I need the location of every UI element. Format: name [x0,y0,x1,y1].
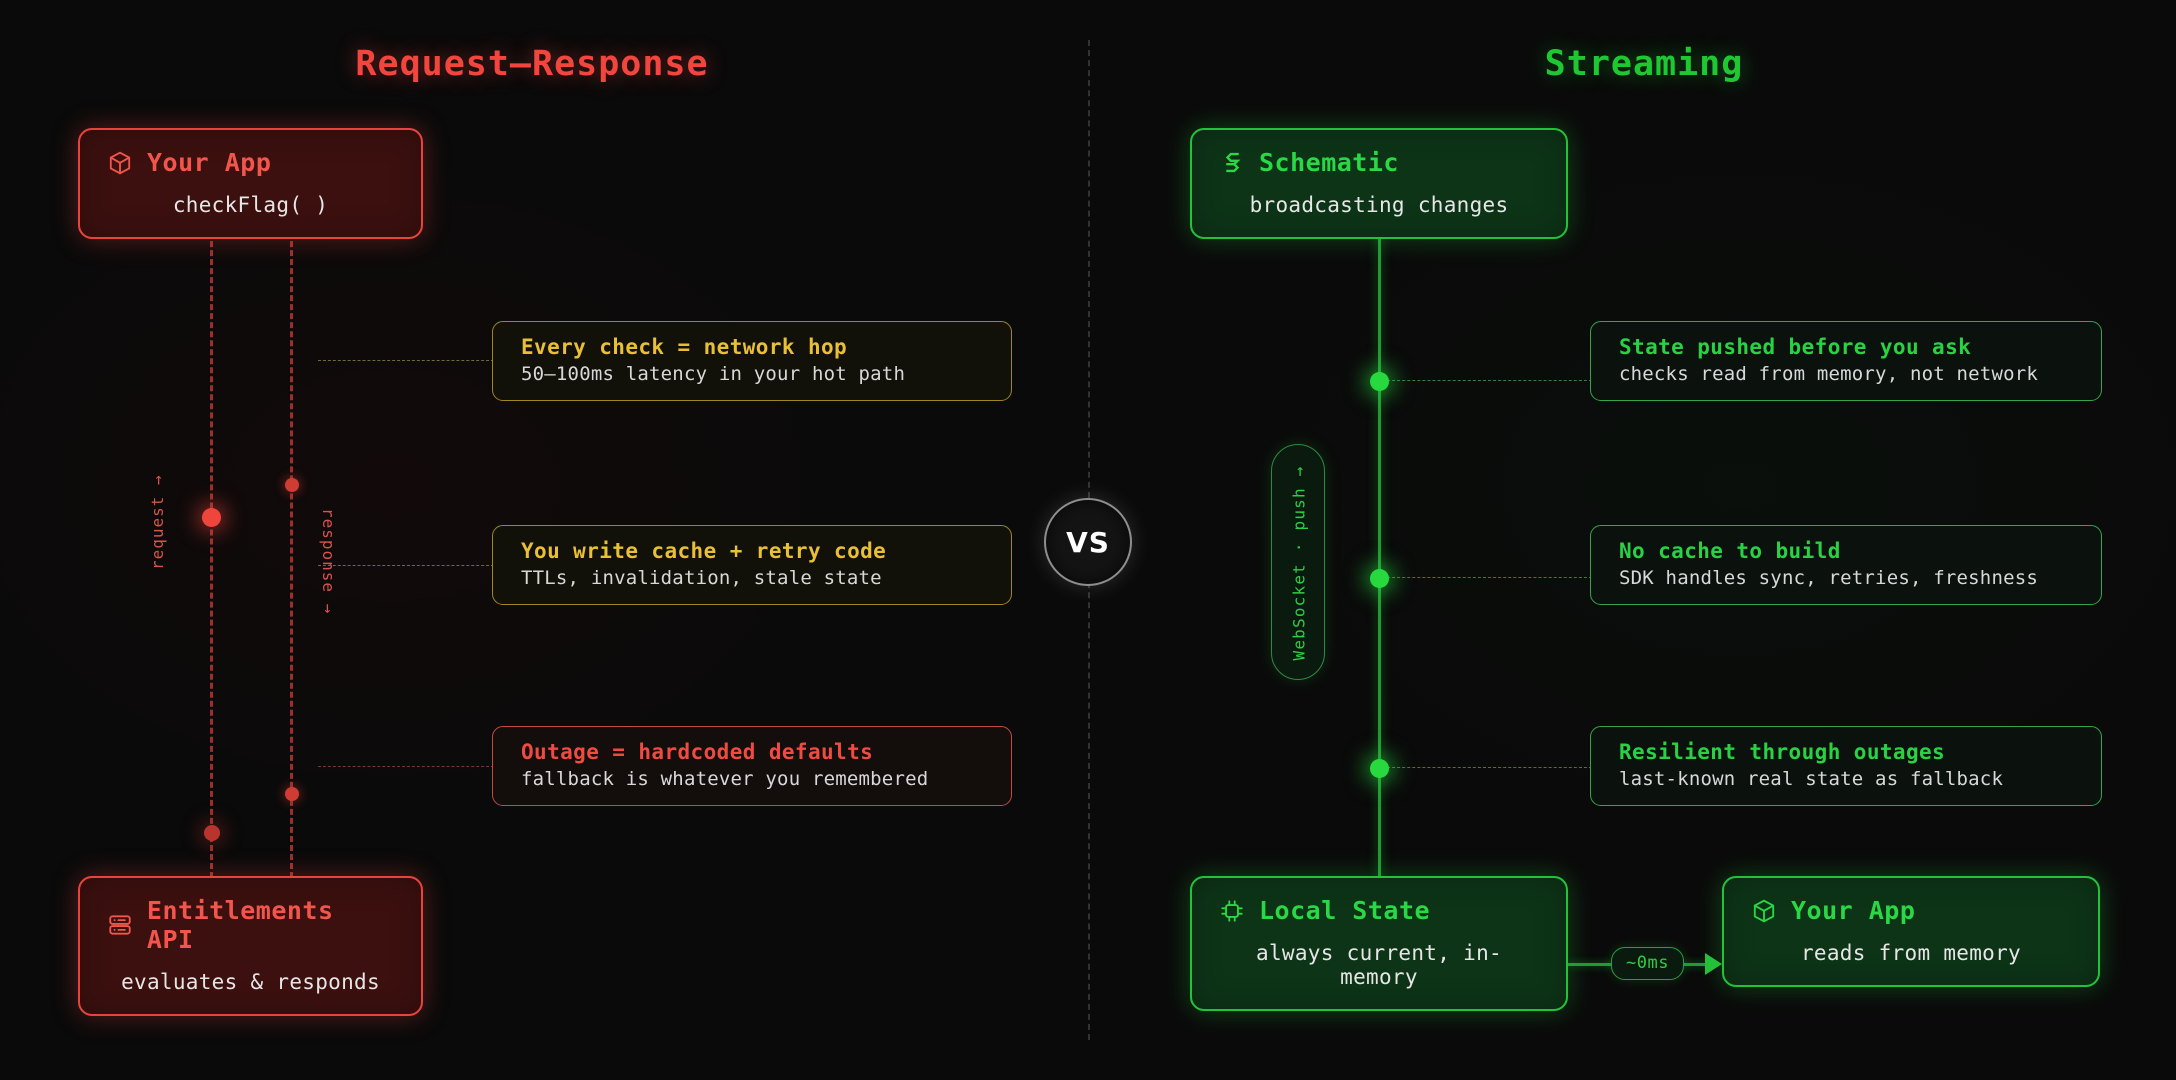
callout-connector [318,360,494,361]
callout-subtitle: fallback is whatever you remembered [521,768,987,790]
node-header: Local State [1218,896,1540,925]
node-title: Schematic [1259,148,1399,177]
callout-connector [318,766,494,767]
node-local-state[interactable]: Local State always current, in-memory [1190,876,1568,1011]
node-subtitle: broadcasting changes [1218,193,1540,217]
stream-node-dot [1370,569,1389,588]
heading-request-response: Request—Response [0,44,1064,84]
node-header: Schematic [1218,148,1540,177]
callout-title: State pushed before you ask [1619,335,2077,359]
node-subtitle: checkFlag( ) [106,193,395,217]
node-entitlements-api[interactable]: Entitlements API evaluates & responds [78,876,423,1016]
node-header: Your App [106,148,395,177]
node-subtitle: reads from memory [1750,941,2072,965]
callout-subtitle: TTLs, invalidation, stale state [521,567,987,589]
callout-title: No cache to build [1619,539,2077,563]
websocket-transport-label: WebSocket · push → [1290,466,1309,661]
callout-connector [1382,380,1592,381]
node-title: Your App [147,148,271,177]
cube-icon [106,149,134,177]
node-title: Local State [1259,896,1430,925]
websocket-transport-pill: WebSocket · push → [1271,444,1325,680]
cpu-chip-icon [1218,897,1246,925]
request-node-dot [204,825,220,841]
callout-right-2: No cache to build SDK handles sync, retr… [1590,525,2102,605]
callout-subtitle: checks read from memory, not network [1619,363,2077,385]
callout-left-1: Every check = network hop 50—100ms laten… [492,321,1012,401]
node-title: Entitlements API [147,896,395,954]
response-node-dot [285,787,299,801]
node-your-app-right[interactable]: Your App reads from memory [1722,876,2100,987]
callout-left-2: You write cache + retry code TTLs, inval… [492,525,1012,605]
response-flow-line [290,196,293,878]
node-title: Your App [1791,896,1915,925]
vs-badge: VS [1044,498,1132,586]
response-node-dot [285,478,299,492]
callout-right-3: Resilient through outages last-known rea… [1590,726,2102,806]
callout-left-3: Outage = hardcoded defaults fallback is … [492,726,1012,806]
callout-title: Resilient through outages [1619,740,2077,764]
callout-title: Outage = hardcoded defaults [521,740,987,764]
latency-badge: ~0ms [1611,947,1684,980]
request-edge-label: request → [148,474,167,570]
stream-node-dot [1370,759,1389,778]
callout-subtitle: last-known real state as fallback [1619,768,2077,790]
node-your-app-left[interactable]: Your App checkFlag( ) [78,128,423,239]
diagram-canvas: VS Request—Response Streaming request → … [0,0,2176,1080]
request-flow-line [210,196,213,878]
callout-title: Every check = network hop [521,335,987,359]
node-subtitle: evaluates & responds [106,970,395,994]
callout-subtitle: 50—100ms latency in your hot path [521,363,987,385]
callout-connector [1382,577,1592,578]
callout-right-1: State pushed before you ask checks read … [1590,321,2102,401]
local-state-to-app-arrow-head [1705,953,1722,975]
node-schematic[interactable]: Schematic broadcasting changes [1190,128,1568,239]
heading-streaming: Streaming [1112,44,2176,84]
schematic-logo-icon [1218,149,1246,177]
callout-subtitle: SDK handles sync, retries, freshness [1619,567,2077,589]
node-subtitle: always current, in-memory [1218,941,1540,989]
response-edge-label: response → [319,508,338,614]
callout-connector [318,565,494,566]
request-node-dot [202,508,221,527]
server-icon [106,911,134,939]
stream-node-dot [1370,372,1389,391]
callout-title: You write cache + retry code [521,539,987,563]
node-header: Entitlements API [106,896,395,954]
callout-connector [1382,767,1592,768]
node-header: Your App [1750,896,2072,925]
cube-icon [1750,897,1778,925]
